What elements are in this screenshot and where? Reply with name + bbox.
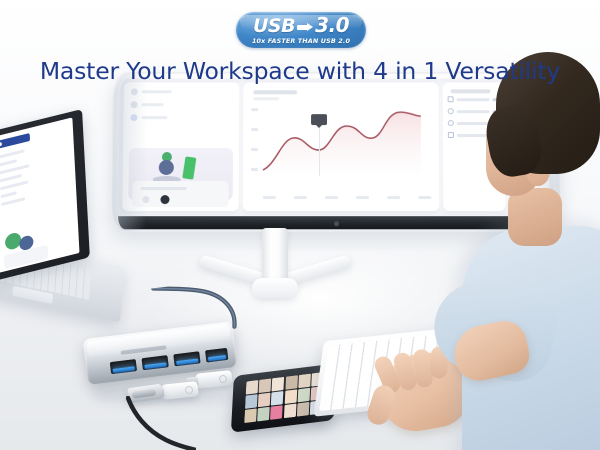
- usb-trident-icon: [297, 23, 313, 32]
- photo-thumbnail[interactable]: [285, 375, 298, 389]
- x-axis: [263, 196, 432, 206]
- content-line: [0, 164, 29, 174]
- photo-thumbnail[interactable]: [257, 407, 270, 421]
- usb-badge-main: USB 3.0: [253, 15, 349, 36]
- photo-thumbnail[interactable]: [244, 423, 256, 424]
- list-item: [131, 101, 234, 108]
- photo-thumbnail[interactable]: [284, 389, 297, 403]
- photo-thumbnail-grid: [244, 372, 324, 424]
- photo-thumbnail[interactable]: [259, 378, 272, 392]
- illustration-board: [182, 156, 196, 179]
- list-bullet-icon: [131, 101, 138, 108]
- promo-banner: USB 3.0 10x FASTER THAN USB 2.0 Master Y…: [0, 0, 600, 450]
- list-bullet-icon: [130, 114, 137, 121]
- photo-thumbnail[interactable]: [270, 405, 283, 419]
- usb-badge-tagline: 10x FASTER THAN USB 2.0: [252, 37, 350, 45]
- illustration-body: [159, 160, 174, 175]
- photo-thumbnail[interactable]: [244, 408, 257, 422]
- sidebar-footer-card: [132, 181, 229, 207]
- usb-3-badge: USB 3.0 10x FASTER THAN USB 2.0: [236, 12, 366, 48]
- list-item-label: [142, 90, 172, 93]
- row-icon: [448, 132, 454, 138]
- row-icon: [448, 96, 454, 102]
- photo-thumbnail[interactable]: [297, 402, 310, 416]
- chart-crosshair: [319, 128, 320, 176]
- row-icon: [448, 108, 454, 114]
- footer-label: [141, 187, 187, 190]
- cord-path-icon: [126, 396, 196, 450]
- content-line: [0, 180, 28, 189]
- y-tick: [251, 168, 258, 171]
- x-tick: [418, 196, 431, 199]
- x-tick: [263, 196, 276, 199]
- list-bullet-icon: [131, 88, 138, 95]
- photo-thumbnail[interactable]: [245, 394, 258, 408]
- list-item: [130, 114, 233, 121]
- monitor-stand-base: [252, 278, 298, 298]
- area-line-series: [263, 106, 421, 176]
- open-laptop: [0, 120, 110, 300]
- photo-thumbnail[interactable]: [297, 416, 309, 417]
- usb-port[interactable]: [142, 355, 169, 370]
- row-icon: [448, 120, 454, 126]
- y-axis: [251, 106, 261, 193]
- photo-thumbnail[interactable]: [298, 374, 311, 388]
- photo-thumbnail[interactable]: [271, 391, 284, 405]
- photo-thumbnail[interactable]: [257, 421, 269, 422]
- chart-tooltip: [311, 114, 327, 125]
- photo-thumbnail[interactable]: [283, 418, 295, 419]
- content-line: [0, 149, 25, 158]
- content-line: [0, 174, 22, 182]
- content-line: [1, 191, 17, 197]
- x-tick: [325, 196, 338, 199]
- x-tick: [356, 196, 369, 199]
- analytics-chart-pane: [243, 82, 440, 211]
- laptop-screen: [0, 117, 80, 272]
- photo-thumbnail[interactable]: [284, 404, 297, 418]
- list-item-label: [142, 103, 164, 106]
- person-working-at-desk: [468, 48, 600, 450]
- list-item: [131, 88, 234, 95]
- laptop-lid: [0, 109, 90, 281]
- x-tick: [294, 196, 307, 199]
- content-line: [1, 197, 25, 205]
- photo-thumbnail[interactable]: [272, 377, 285, 391]
- usb-c-cord: [126, 396, 196, 450]
- y-tick: [251, 108, 258, 110]
- usb-label: USB: [253, 17, 295, 36]
- photo-thumbnail[interactable]: [246, 380, 259, 394]
- photo-thumbnail[interactable]: [258, 393, 271, 407]
- photo-thumbnail[interactable]: [270, 419, 282, 420]
- chart-title: [253, 90, 297, 94]
- photo-thumbnail[interactable]: [297, 388, 310, 402]
- content-line: [0, 159, 17, 166]
- y-tick: [251, 148, 258, 150]
- usb-port[interactable]: [205, 348, 228, 363]
- usb-version-label: 3.0: [315, 15, 349, 35]
- list-item-label: [141, 116, 167, 119]
- drive-keyring-hole: [219, 374, 228, 383]
- x-tick: [387, 196, 400, 199]
- footer-avatar: [160, 195, 169, 204]
- drive-keyring-hole: [185, 385, 194, 394]
- chart-subtitle: [253, 97, 279, 100]
- usb-port[interactable]: [173, 351, 200, 366]
- footer-icon: [142, 196, 149, 203]
- chart-plot-area: [251, 106, 431, 193]
- sidebar-pane: [122, 82, 239, 211]
- person-neck: [508, 188, 562, 246]
- usb-port[interactable]: [110, 359, 137, 374]
- page-title: Master Your Workspace with 4 in 1 Versat…: [0, 57, 600, 85]
- y-tick: [251, 128, 258, 130]
- app-header-bar: [0, 133, 30, 149]
